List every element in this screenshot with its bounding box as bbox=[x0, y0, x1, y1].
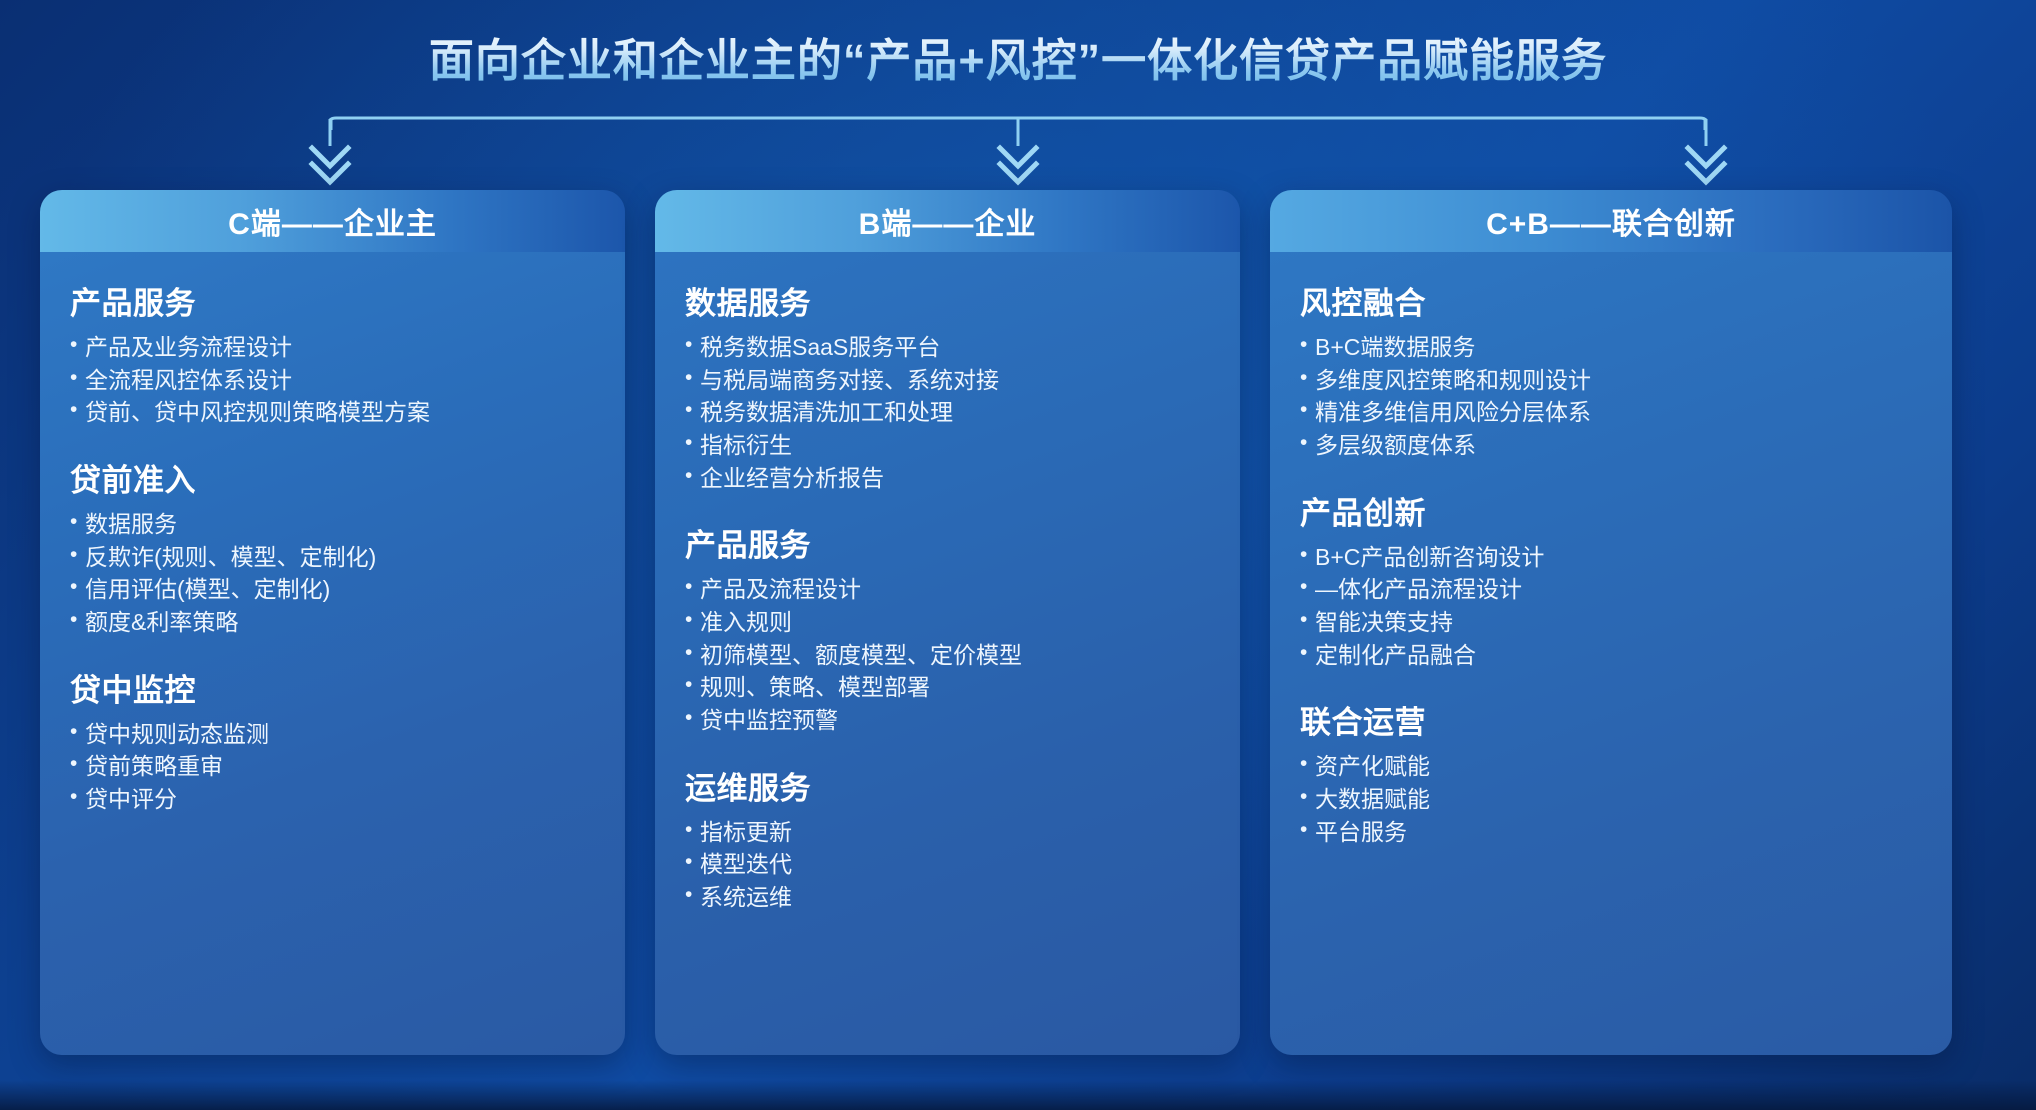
section-block: 风控融合 B+C端数据服务 多维度风控策略和规则设计 精准多维信用风险分层体系 … bbox=[1300, 278, 1922, 462]
list-item: 产品及业务流程设计 bbox=[70, 331, 595, 364]
section-block: 运维服务 指标更新 模型迭代 系统运维 bbox=[685, 763, 1210, 914]
list-item: 信用评估(模型、定制化) bbox=[70, 573, 595, 606]
double-chevron-down-icon-2 bbox=[1000, 148, 1036, 182]
section-title: 产品服务 bbox=[70, 278, 595, 323]
card-c-end[interactable]: C端——企业主 产品服务 产品及业务流程设计 全流程风控体系设计 贷前、贷中风控… bbox=[40, 190, 625, 1055]
bullet-list: 产品及业务流程设计 全流程风控体系设计 贷前、贷中风控规则策略模型方案 bbox=[70, 331, 595, 429]
section-title: 联合运营 bbox=[1300, 697, 1922, 742]
list-item: 大数据赋能 bbox=[1300, 783, 1922, 816]
card-cb-joint[interactable]: C+B——联合创新 风控融合 B+C端数据服务 多维度风控策略和规则设计 精准多… bbox=[1270, 190, 1952, 1055]
list-item: 精准多维信用风险分层体系 bbox=[1300, 396, 1922, 429]
list-item: 指标更新 bbox=[685, 816, 1210, 849]
card-b-end[interactable]: B端——企业 数据服务 税务数据SaaS服务平台 与税局端商务对接、系统对接 税… bbox=[655, 190, 1240, 1055]
list-item: 产品及流程设计 bbox=[685, 573, 1210, 606]
list-item: —体化产品流程设计 bbox=[1300, 573, 1922, 606]
list-item: 数据服务 bbox=[70, 508, 595, 541]
list-item: 全流程风控体系设计 bbox=[70, 364, 595, 397]
bullet-list: 产品及流程设计 准入规则 初筛模型、额度模型、定价模型 规则、策略、模型部署 贷… bbox=[685, 573, 1210, 736]
section-title: 风控融合 bbox=[1300, 278, 1922, 323]
list-item: 初筛模型、额度模型、定价模型 bbox=[685, 639, 1210, 672]
list-item: 税务数据清洗加工和处理 bbox=[685, 396, 1210, 429]
card-header-b-end: B端——企业 bbox=[655, 190, 1240, 252]
list-item: 贷前、贷中风控规则策略模型方案 bbox=[70, 396, 595, 429]
section-block: 贷中监控 贷中规则动态监测 贷前策略重审 贷中评分 bbox=[70, 665, 595, 816]
list-item: 资产化赋能 bbox=[1300, 750, 1922, 783]
bullet-list: 资产化赋能 大数据赋能 平台服务 bbox=[1300, 750, 1922, 848]
section-block: 贷前准入 数据服务 反欺诈(规则、模型、定制化) 信用评估(模型、定制化) 额度… bbox=[70, 455, 595, 639]
list-item: 平台服务 bbox=[1300, 816, 1922, 849]
list-item: 指标衍生 bbox=[685, 429, 1210, 462]
list-item: 定制化产品融合 bbox=[1300, 639, 1922, 672]
list-item: 模型迭代 bbox=[685, 848, 1210, 881]
card-body-c-end: 产品服务 产品及业务流程设计 全流程风控体系设计 贷前、贷中风控规则策略模型方案… bbox=[40, 252, 625, 1055]
bullet-list: 数据服务 反欺诈(规则、模型、定制化) 信用评估(模型、定制化) 额度&利率策略 bbox=[70, 508, 595, 639]
double-chevron-down-icon-3 bbox=[1688, 148, 1724, 182]
section-block: 产品服务 产品及流程设计 准入规则 初筛模型、额度模型、定价模型 规则、策略、模… bbox=[685, 520, 1210, 736]
list-item: 额度&利率策略 bbox=[70, 606, 595, 639]
list-item: 贷中监控预警 bbox=[685, 704, 1210, 737]
list-item: 与税局端商务对接、系统对接 bbox=[685, 364, 1210, 397]
double-chevron-down-icon-1 bbox=[312, 148, 348, 182]
list-item: 贷前策略重审 bbox=[70, 750, 595, 783]
list-item: 贷中规则动态监测 bbox=[70, 718, 595, 751]
list-item: 贷中评分 bbox=[70, 783, 595, 816]
cards-container: C端——企业主 产品服务 产品及业务流程设计 全流程风控体系设计 贷前、贷中风控… bbox=[40, 190, 1996, 1055]
section-title: 数据服务 bbox=[685, 278, 1210, 323]
list-item: 准入规则 bbox=[685, 606, 1210, 639]
bullet-list: 指标更新 模型迭代 系统运维 bbox=[685, 816, 1210, 914]
section-title: 贷中监控 bbox=[70, 665, 595, 710]
title-container: 面向企业和企业主的“产品+风控”一体化信贷产品赋能服务 bbox=[0, 24, 2036, 89]
card-header-cb-joint: C+B——联合创新 bbox=[1270, 190, 1952, 252]
list-item: B+C产品创新咨询设计 bbox=[1300, 541, 1922, 574]
card-body-b-end: 数据服务 税务数据SaaS服务平台 与税局端商务对接、系统对接 税务数据清洗加工… bbox=[655, 252, 1240, 1055]
list-item: B+C端数据服务 bbox=[1300, 331, 1922, 364]
bullet-list: B+C产品创新咨询设计 —体化产品流程设计 智能决策支持 定制化产品融合 bbox=[1300, 541, 1922, 672]
section-title: 贷前准入 bbox=[70, 455, 595, 500]
list-item: 企业经营分析报告 bbox=[685, 462, 1210, 495]
section-block: 产品创新 B+C产品创新咨询设计 —体化产品流程设计 智能决策支持 定制化产品融… bbox=[1300, 488, 1922, 672]
bullet-list: 贷中规则动态监测 贷前策略重审 贷中评分 bbox=[70, 718, 595, 816]
list-item: 税务数据SaaS服务平台 bbox=[685, 331, 1210, 364]
section-block: 数据服务 税务数据SaaS服务平台 与税局端商务对接、系统对接 税务数据清洗加工… bbox=[685, 278, 1210, 494]
section-title: 产品创新 bbox=[1300, 488, 1922, 533]
list-item: 反欺诈(规则、模型、定制化) bbox=[70, 541, 595, 574]
section-title: 产品服务 bbox=[685, 520, 1210, 565]
slide-canvas: 面向企业和企业主的“产品+风控”一体化信贷产品赋能服务 C端——企业主 产品服务 bbox=[0, 0, 2036, 1110]
card-header-c-end: C端——企业主 bbox=[40, 190, 625, 252]
bullet-list: 税务数据SaaS服务平台 与税局端商务对接、系统对接 税务数据清洗加工和处理 指… bbox=[685, 331, 1210, 494]
card-body-cb-joint: 风控融合 B+C端数据服务 多维度风控策略和规则设计 精准多维信用风险分层体系 … bbox=[1270, 252, 1952, 1055]
connector-bracket bbox=[0, 116, 2036, 196]
list-item: 多维度风控策略和规则设计 bbox=[1300, 364, 1922, 397]
list-item: 系统运维 bbox=[685, 881, 1210, 914]
section-block: 联合运营 资产化赋能 大数据赋能 平台服务 bbox=[1300, 697, 1922, 848]
list-item: 智能决策支持 bbox=[1300, 606, 1922, 639]
list-item: 多层级额度体系 bbox=[1300, 429, 1922, 462]
list-item: 规则、策略、模型部署 bbox=[685, 671, 1210, 704]
section-title: 运维服务 bbox=[685, 763, 1210, 808]
bullet-list: B+C端数据服务 多维度风控策略和规则设计 精准多维信用风险分层体系 多层级额度… bbox=[1300, 331, 1922, 462]
section-block: 产品服务 产品及业务流程设计 全流程风控体系设计 贷前、贷中风控规则策略模型方案 bbox=[70, 278, 595, 429]
page-title: 面向企业和企业主的“产品+风控”一体化信贷产品赋能服务 bbox=[429, 24, 1607, 89]
